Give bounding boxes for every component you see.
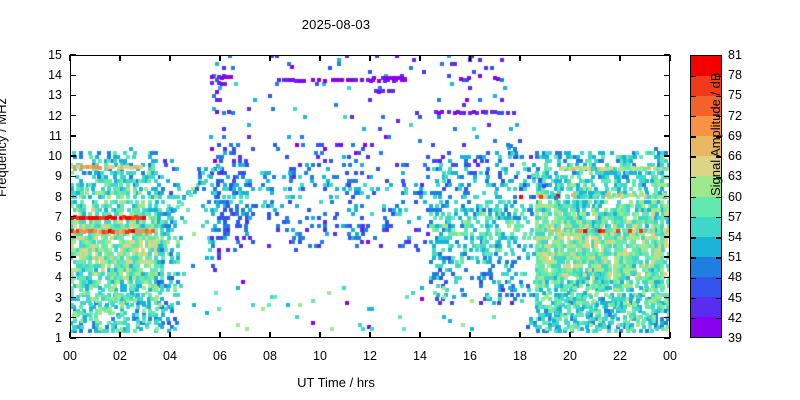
y-axis-tick-right — [664, 236, 670, 237]
chart-root: 2025-08-03 12345678910111213141500020406… — [0, 0, 800, 400]
colorbar-label: 45 — [728, 292, 742, 305]
y-axis-label: 3 — [36, 292, 62, 305]
y-axis-tick-right — [664, 277, 670, 278]
colorbar-tick — [691, 96, 696, 97]
colorbar-label: 75 — [728, 89, 742, 102]
colorbar-tick — [691, 217, 696, 218]
colorbar-tick — [691, 298, 696, 299]
x-axis-tick — [669, 332, 670, 338]
colorbar-label: 81 — [728, 49, 742, 62]
y-axis-label: 8 — [36, 191, 62, 204]
colorbar-tick — [716, 217, 721, 218]
y-axis-label: 12 — [36, 110, 62, 123]
colorbar-tick — [691, 156, 696, 157]
x-axis-tick — [319, 332, 320, 338]
colorbar-tick — [691, 257, 696, 258]
x-axis-tick — [519, 332, 520, 338]
y-axis-label: 13 — [36, 89, 62, 102]
y-axis-tick-right — [664, 176, 670, 177]
x-axis-tick — [569, 332, 570, 338]
x-axis-tick-top — [269, 55, 270, 61]
x-axis-label: 18 — [505, 350, 535, 363]
x-axis-label: 02 — [105, 350, 135, 363]
colorbar-label: 69 — [728, 130, 742, 143]
colorbar-tick — [716, 257, 721, 258]
y-axis-label: 1 — [36, 332, 62, 345]
colorbar-tick — [691, 76, 696, 77]
x-axis-tick-top — [369, 55, 370, 61]
x-axis-label: 08 — [255, 350, 285, 363]
colorbar-label: 39 — [728, 332, 742, 345]
x-axis-tick — [469, 332, 470, 338]
colorbar-tick — [691, 197, 696, 198]
y-axis-tick-right — [664, 155, 670, 156]
y-axis-tick — [70, 196, 76, 197]
x-axis-label: 22 — [605, 350, 635, 363]
y-axis-label: 6 — [36, 231, 62, 244]
colorbar-tick — [691, 116, 696, 117]
x-axis-tick-top — [119, 55, 120, 61]
x-axis-label: 00 — [655, 350, 685, 363]
colorbar-label: 66 — [728, 150, 742, 163]
colorbar-band — [691, 297, 721, 317]
x-axis-tick — [169, 332, 170, 338]
colorbar-tick — [691, 136, 696, 137]
colorbar-label: 48 — [728, 271, 742, 284]
x-axis-tick — [269, 332, 270, 338]
colorbar-tick — [716, 298, 721, 299]
y-axis-tick — [70, 75, 76, 76]
y-axis-tick-right — [664, 256, 670, 257]
y-axis-label: 5 — [36, 251, 62, 264]
colorbar-label: 57 — [728, 211, 742, 224]
colorbar-band — [691, 317, 721, 337]
y-axis-tick — [70, 337, 76, 338]
colorbar-tick — [716, 197, 721, 198]
colorbar-label: 78 — [728, 69, 742, 82]
y-axis-tick — [70, 135, 76, 136]
x-axis-tick-top — [469, 55, 470, 61]
colorbar-label: 51 — [728, 251, 742, 264]
y-axis-tick — [70, 277, 76, 278]
x-axis-label: 12 — [355, 350, 385, 363]
y-axis-tick — [70, 155, 76, 156]
x-axis-tick-top — [219, 55, 220, 61]
y-axis-tick-right — [664, 196, 670, 197]
page-title: 2025-08-03 — [0, 17, 672, 32]
y-axis-tick-right — [664, 115, 670, 116]
plot-area — [70, 55, 670, 338]
y-axis-label: 15 — [36, 49, 62, 62]
x-axis-tick — [119, 332, 120, 338]
x-axis-tick — [369, 332, 370, 338]
colorbar-tick — [716, 237, 721, 238]
y-axis-tick — [70, 216, 76, 217]
colorbar-label: 54 — [728, 231, 742, 244]
x-axis-tick — [219, 332, 220, 338]
colorbar-band — [691, 277, 721, 297]
y-axis-label: 10 — [36, 150, 62, 163]
x-axis-label: 06 — [205, 350, 235, 363]
colorbar-band — [691, 257, 721, 277]
y-axis-tick-right — [664, 75, 670, 76]
y-axis-label: 4 — [36, 271, 62, 284]
x-axis-tick — [69, 332, 70, 338]
colorbar-title: Signal Amplitude / dB — [708, 72, 723, 196]
y-axis-tick — [70, 236, 76, 237]
colorbar-label: 60 — [728, 191, 742, 204]
y-axis-tick — [70, 54, 76, 55]
y-axis-title: Frequency / MHz — [0, 98, 9, 197]
x-axis-label: 16 — [455, 350, 485, 363]
x-axis-label: 14 — [405, 350, 435, 363]
x-axis-tick-top — [69, 55, 70, 61]
colorbar-label: 72 — [728, 110, 742, 123]
colorbar-label: 42 — [728, 312, 742, 325]
colorbar-tick — [716, 318, 721, 319]
y-axis-tick — [70, 95, 76, 96]
y-axis-tick — [70, 256, 76, 257]
colorbar-tick — [691, 318, 696, 319]
x-axis-label: 00 — [55, 350, 85, 363]
y-axis-tick-right — [664, 135, 670, 136]
y-axis-label: 14 — [36, 69, 62, 82]
x-axis-tick-top — [419, 55, 420, 61]
y-axis-tick-right — [664, 317, 670, 318]
x-axis-title: UT Time / hrs — [0, 375, 672, 390]
y-axis-label: 7 — [36, 211, 62, 224]
colorbar-tick — [691, 278, 696, 279]
y-axis-label: 2 — [36, 312, 62, 325]
y-axis-label: 9 — [36, 170, 62, 183]
x-axis-tick-top — [169, 55, 170, 61]
colorbar-tick — [716, 278, 721, 279]
x-axis-tick-top — [569, 55, 570, 61]
colorbar-tick — [691, 177, 696, 178]
x-axis-tick-top — [519, 55, 520, 61]
x-axis-tick-top — [619, 55, 620, 61]
y-axis-label: 11 — [36, 130, 62, 143]
y-axis-tick — [70, 317, 76, 318]
y-axis-tick — [70, 297, 76, 298]
y-axis-tick-right — [664, 95, 670, 96]
colorbar-tick — [691, 237, 696, 238]
x-axis-label: 04 — [155, 350, 185, 363]
x-axis-tick-top — [319, 55, 320, 61]
x-axis-tick — [619, 332, 620, 338]
colorbar-band — [691, 217, 721, 237]
x-axis-label: 20 — [555, 350, 585, 363]
x-axis-tick-top — [669, 55, 670, 61]
x-axis-tick — [419, 332, 420, 338]
y-axis-tick-right — [664, 216, 670, 217]
colorbar-band — [691, 197, 721, 217]
x-axis-label: 10 — [305, 350, 335, 363]
colorbar-band — [691, 237, 721, 257]
colorbar-label: 63 — [728, 170, 742, 183]
spectrogram-canvas — [71, 56, 670, 338]
y-axis-tick-right — [664, 297, 670, 298]
y-axis-tick — [70, 176, 76, 177]
y-axis-tick — [70, 115, 76, 116]
